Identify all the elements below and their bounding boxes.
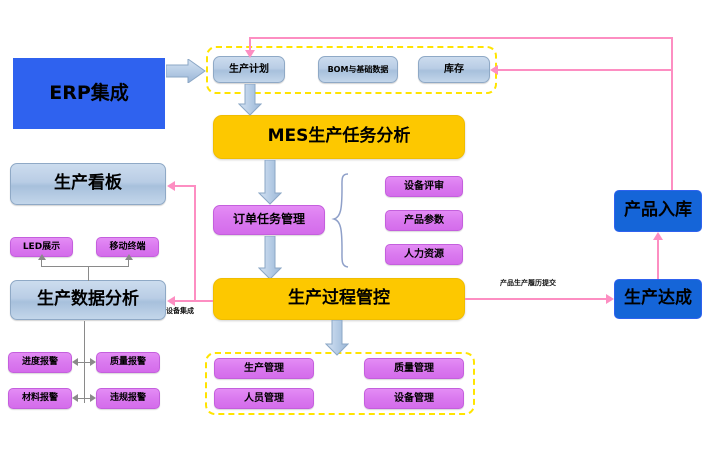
node-production-process-control[interactable]: 生产过程管控 xyxy=(213,278,465,320)
node-progress-alarm[interactable]: 进度报警 xyxy=(8,352,72,373)
edge-label-production-record-submit: 产品生产履历提交 xyxy=(500,278,556,288)
node-inventory[interactable]: 库存 xyxy=(418,56,490,83)
node-production-management[interactable]: 生产管理 xyxy=(214,358,314,379)
arrow-into-production-kanban xyxy=(167,181,175,191)
gray-line-alarm-row1 xyxy=(78,362,90,363)
node-bom-basic-data-label: BOM与基础数据 xyxy=(328,65,389,74)
pink-line-storage-up xyxy=(671,37,673,190)
node-mes-task-analysis[interactable]: MES生产任务分析 xyxy=(213,115,465,159)
block-arrow-mes-to-order xyxy=(258,160,282,205)
gray-line-terminals-bus xyxy=(41,266,129,267)
edge-label-equipment-integration: 设备集成 xyxy=(166,306,194,316)
gray-line-analysis-up xyxy=(88,266,89,281)
arrow-into-production-data-analysis xyxy=(167,296,175,306)
arrow-progress-alarm-left xyxy=(72,358,78,366)
node-progress-alarm-label: 进度报警 xyxy=(22,357,58,367)
node-production-achievement[interactable]: 生产达成 xyxy=(614,279,702,319)
node-bom-basic-data[interactable]: BOM与基础数据 xyxy=(318,56,398,83)
node-erp-integration[interactable]: ERP集成 xyxy=(13,58,165,129)
gray-line-to-led xyxy=(41,259,42,267)
node-personnel-management[interactable]: 人员管理 xyxy=(214,388,314,409)
node-equipment-management[interactable]: 设备管理 xyxy=(364,388,464,409)
diagram-canvas: ERP集成 生产计划 BOM与基础数据 库存 MES生产任务分析 xyxy=(0,0,720,450)
node-human-resources-label: 人力资源 xyxy=(404,249,444,261)
node-quality-management-label: 质量管理 xyxy=(394,363,434,375)
pink-line-to-inventory xyxy=(498,69,672,71)
block-arrow-plan-to-mes xyxy=(238,84,262,116)
node-human-resources[interactable]: 人力资源 xyxy=(385,244,463,265)
node-order-task-management[interactable]: 订单任务管理 xyxy=(213,205,325,235)
node-violation-alarm-label: 违规报警 xyxy=(110,393,146,403)
node-product-storage-label: 产品入库 xyxy=(624,201,692,221)
arrow-into-production-plan xyxy=(245,50,255,58)
node-product-parameters-label: 产品参数 xyxy=(404,215,444,227)
gray-line-to-mobile xyxy=(128,259,129,267)
node-equipment-review[interactable]: 设备评审 xyxy=(385,176,463,197)
arrow-into-production-achievement xyxy=(606,294,614,304)
node-quality-alarm[interactable]: 质量报警 xyxy=(96,352,160,373)
arrow-into-product-storage xyxy=(653,232,663,240)
node-quality-management[interactable]: 质量管理 xyxy=(364,358,464,379)
node-erp-integration-label: ERP集成 xyxy=(49,83,129,105)
node-violation-alarm[interactable]: 违规报警 xyxy=(96,388,160,409)
node-quality-alarm-label: 质量报警 xyxy=(110,357,146,367)
node-material-alarm[interactable]: 材料报警 xyxy=(8,388,72,409)
pink-line-branch-to-kanban xyxy=(175,185,195,187)
pink-line-left-branch-up xyxy=(194,185,196,301)
node-production-achievement-label: 生产达成 xyxy=(624,289,692,309)
brace-order-attributes xyxy=(328,172,350,274)
node-product-parameters[interactable]: 产品参数 xyxy=(385,210,463,231)
node-inventory-label: 库存 xyxy=(444,64,464,76)
block-arrow-erp-to-plan xyxy=(166,59,206,83)
node-production-process-control-label: 生产过程管控 xyxy=(288,289,390,309)
pink-line-achievement-to-storage xyxy=(657,240,659,279)
node-product-storage[interactable]: 产品入库 xyxy=(614,190,702,232)
node-equipment-review-label: 设备评审 xyxy=(404,181,444,193)
node-production-kanban-label: 生产看板 xyxy=(54,174,122,194)
arrow-quality-alarm-right xyxy=(90,358,96,366)
node-production-management-label: 生产管理 xyxy=(244,363,284,375)
block-arrow-order-to-process xyxy=(258,236,282,280)
node-personnel-management-label: 人员管理 xyxy=(244,393,284,405)
arrow-into-inventory xyxy=(490,65,498,75)
gray-line-alarm-row2 xyxy=(78,398,90,399)
arrow-into-mobile-terminal xyxy=(125,254,133,260)
node-production-plan-label: 生产计划 xyxy=(229,64,269,76)
arrow-violation-alarm-right xyxy=(90,394,96,402)
block-arrow-process-to-modules xyxy=(325,320,349,356)
arrow-into-led-display xyxy=(38,254,46,260)
arrow-material-alarm-left xyxy=(72,394,78,402)
node-order-task-management-label: 订单任务管理 xyxy=(233,213,305,227)
pink-line-top-to-plan xyxy=(249,37,673,39)
node-production-kanban[interactable]: 生产看板 xyxy=(10,163,166,205)
node-production-data-analysis[interactable]: 生产数据分析 xyxy=(10,280,166,320)
node-production-plan[interactable]: 生产计划 xyxy=(213,56,285,83)
node-led-display-label: LED展示 xyxy=(23,242,60,252)
node-mes-task-analysis-label: MES生产任务分析 xyxy=(268,127,411,147)
node-material-alarm-label: 材料报警 xyxy=(22,393,58,403)
pink-line-process-to-achievement xyxy=(465,298,606,300)
node-mobile-terminal-label: 移动终端 xyxy=(109,242,145,252)
node-production-data-analysis-label: 生产数据分析 xyxy=(37,290,139,310)
node-equipment-management-label: 设备管理 xyxy=(394,393,434,405)
